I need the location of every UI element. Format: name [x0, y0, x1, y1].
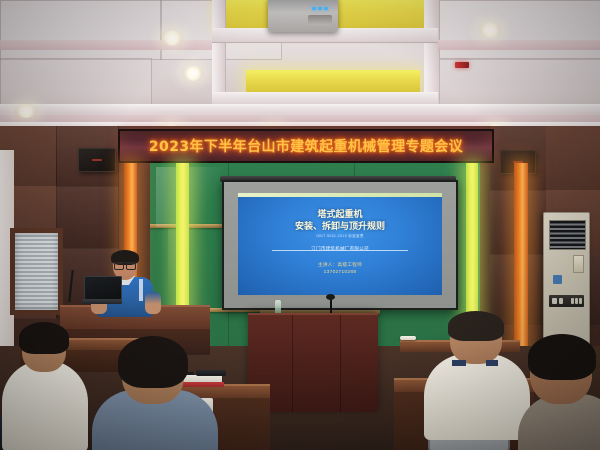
attendee-front-left — [2, 330, 88, 450]
glasses-icon — [114, 262, 136, 268]
attendee-hair — [118, 336, 188, 388]
ac-panel-segment — [579, 298, 582, 304]
presenter-shirt-stripe — [139, 279, 143, 301]
downlight — [14, 104, 38, 118]
laptop-keyboard — [82, 299, 122, 304]
microphone-icon — [326, 294, 335, 300]
slide-title-line1: 塔式起重机 — [238, 209, 442, 221]
slide-organization: 江门市建筑机械厂有限公司 — [238, 246, 442, 252]
projector-led-icon — [312, 7, 316, 10]
slide-subtitle: GB/T 5031-2019 标准宣贯 — [238, 234, 442, 239]
ceiling-tile — [430, 0, 600, 60]
ac-panel-segment — [552, 298, 557, 304]
ceiling-trim — [438, 40, 600, 50]
projector-led-icon — [318, 7, 322, 10]
podium-seam — [292, 315, 293, 412]
ceiling-tile — [0, 0, 162, 60]
attendee-hair — [528, 334, 596, 380]
led-banner: 2023年下半年台山市建筑起重机械管理专题会议 — [118, 129, 494, 163]
ac-brand-logo-icon — [553, 275, 562, 284]
exit-indicator-icon — [455, 62, 469, 68]
ceiling-beam — [212, 0, 226, 104]
slide-title-line2: 安装、拆卸与顶升规则 — [238, 221, 442, 233]
podium-seam — [340, 315, 341, 412]
phone-on-desk — [400, 336, 416, 340]
presenter-arm — [145, 292, 161, 314]
ceiling — [0, 0, 600, 132]
projector-vent — [308, 15, 332, 25]
ac-panel-segment — [571, 298, 574, 304]
ac-panel-segment — [575, 298, 578, 304]
ac-panel-segment — [559, 298, 563, 304]
projector-led-icon — [324, 7, 328, 10]
downlight — [478, 22, 502, 38]
conference-room-photo: 2023年下半年台山市建筑起重机械管理专题会议 塔式起重机 安装、拆卸与顶升规则… — [0, 0, 600, 450]
polo-collar-stripe — [452, 360, 466, 366]
attendee-hair — [19, 322, 69, 354]
downlight — [182, 66, 204, 81]
ceiling-light-panel — [246, 70, 420, 92]
slide-top-accent — [238, 193, 442, 197]
banner-text: 2023年下半年台山市建筑起重机械管理专题会议 — [149, 136, 463, 156]
presentation-slide: 塔式起重机 安装、拆卸与顶升规则 GB/T 5031-2019 标准宣贯 江门市… — [238, 193, 442, 295]
wall-panel — [546, 126, 600, 191]
downlight — [160, 30, 184, 46]
attendee-center-left — [92, 338, 218, 450]
projection-screen: 塔式起重机 安装、拆卸与顶升规则 GB/T 5031-2019 标准宣贯 江门市… — [222, 180, 458, 310]
ac-control-panel[interactable] — [549, 295, 584, 307]
polo-collar-stripe — [486, 360, 498, 366]
attendee-body — [424, 354, 530, 440]
ceiling-beam — [424, 0, 440, 104]
slide-presenter-line: 主讲人：高级工程师 — [238, 261, 442, 269]
wall-light-strip-yellow — [466, 163, 478, 323]
speaker-badge — [92, 159, 102, 161]
slide-phone: 13702710288 — [238, 270, 442, 275]
wall-panel — [56, 186, 119, 249]
attendee-hair — [448, 311, 504, 341]
air-conditioner[interactable] — [543, 212, 590, 348]
ac-vent-grille — [549, 220, 586, 250]
ac-energy-label — [573, 255, 584, 273]
projector-icon — [268, 0, 338, 32]
window-with-blinds — [10, 228, 63, 315]
attendee-front-right — [518, 338, 600, 450]
wall-speaker-left-icon — [78, 148, 116, 172]
ceiling-tile — [0, 58, 152, 106]
attendee-body — [2, 360, 88, 450]
attendee-center-right — [424, 316, 530, 436]
